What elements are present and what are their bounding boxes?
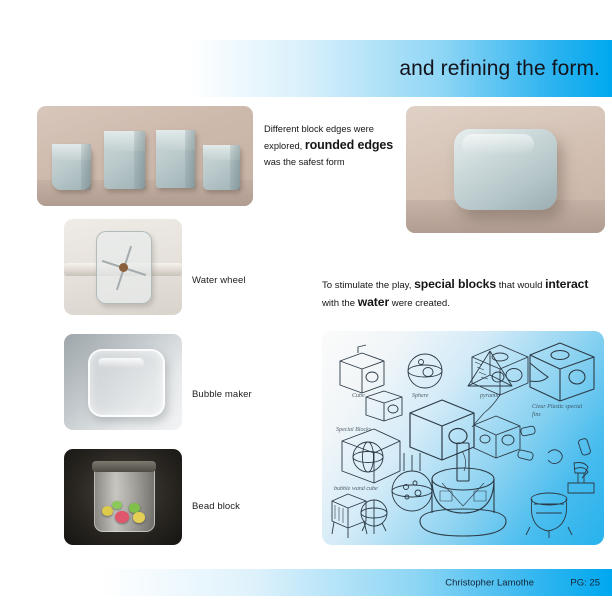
blurb-edges-emphasis: rounded edges [305, 138, 393, 152]
blurb-special-part2: that would [499, 280, 543, 291]
sketch-right-machine [526, 493, 572, 538]
sketch-right-cube [530, 343, 594, 401]
sketch-connector [472, 395, 500, 427]
sketch-drawings [322, 331, 604, 545]
block-sharp-chamfer [156, 130, 195, 188]
page-title: and refining the form. [399, 57, 600, 81]
concept-sketch-page: Cube Sphere pyramid Special Blocks bubbl… [322, 331, 604, 545]
bead-block-photo [64, 449, 182, 545]
blurb-block-edges: Different block edges were explored, rou… [264, 121, 396, 170]
bead [115, 511, 129, 523]
blurb-special-emphasis-water: water [358, 295, 389, 309]
sketch-label-sphere: Sphere [412, 393, 428, 399]
rounded-block-object [454, 129, 557, 210]
sketch-small-cube [366, 391, 402, 421]
sketch-small-parts [517, 426, 591, 478]
sketch-label-special-blocks: Special Blocks [336, 427, 371, 433]
sketch-sphere [408, 354, 442, 388]
sketch-textured-cube [472, 345, 528, 395]
rounded-edge-block-photo [406, 106, 605, 233]
caption-water-wheel: Water wheel [192, 275, 246, 286]
bead [133, 512, 145, 522]
blurb-edges-part2: was the safest form [264, 157, 345, 167]
caption-bead-block: Bead block [192, 501, 240, 512]
blurb-special-part1: To stimulate the play, [322, 280, 411, 291]
header-banner: and refining the form. [160, 40, 612, 97]
sketch-sphere-in-cube [342, 429, 400, 483]
sketch-bubble-sphere [392, 453, 432, 511]
sketch-cube [340, 345, 384, 393]
bead-container [94, 464, 155, 531]
blurb-special-emphasis-interact: interact [545, 277, 588, 291]
block-rounded [52, 144, 91, 190]
blurb-special-part3: with the [322, 298, 355, 309]
sketch-small-sphere [361, 500, 387, 534]
sketch-pedestal [568, 463, 594, 494]
sketch-label-clear-plastic: Clear Plastic special fins [532, 403, 588, 419]
container-lid [92, 461, 156, 471]
water-wheel-housing [96, 231, 152, 304]
four-block-edge-variations-photo [37, 106, 253, 206]
bubble-maker-block-photo [64, 334, 182, 430]
sketch-label-pyramid: pyramid [480, 393, 500, 399]
footer-banner: Christopher Lamothe PG: 25 [30, 569, 612, 596]
blurb-special-emphasis-blocks: special blocks [414, 277, 496, 291]
sketch-label-bubble-wand-cube: bubble wand cube [334, 486, 378, 492]
sketch-mid-cube [474, 416, 520, 458]
blurb-special-part4: were created. [392, 298, 450, 309]
footer-page-number: PG: 25 [570, 577, 600, 588]
caption-bubble-maker: Bubble maker [192, 389, 252, 400]
clear-block-object [88, 349, 165, 416]
block-soft-chamfer [104, 131, 145, 189]
sketch-label-cube: Cube [352, 393, 365, 399]
water-wheel-block-photo [64, 219, 182, 315]
block-beveled [203, 145, 240, 190]
sketch-large-cube [410, 400, 474, 460]
blurb-special-blocks: To stimulate the play, special blocks th… [322, 276, 590, 312]
bead [112, 501, 121, 509]
bead [102, 506, 114, 516]
footer-author: Christopher Lamothe [445, 577, 534, 588]
